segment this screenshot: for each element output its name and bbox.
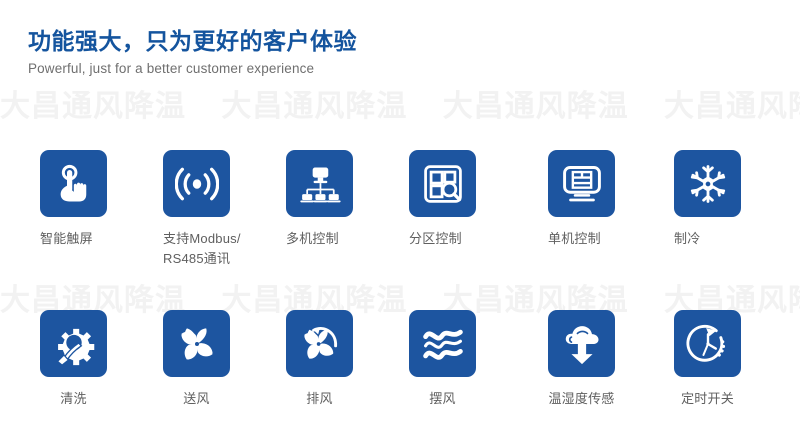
feature-tile[interactable] (40, 310, 107, 377)
feature-tile[interactable] (286, 310, 353, 377)
feature-label: 多机控制 (286, 229, 406, 249)
timer-clock-icon (686, 322, 730, 366)
feature-item-single-unit-control[interactable]: 单机控制 (548, 150, 668, 249)
zone-search-icon (421, 162, 465, 206)
watermark-text: 大昌通风降温 (664, 90, 800, 123)
feature-tile[interactable] (163, 310, 230, 377)
feature-label-line2: RS485通讯 (163, 251, 230, 266)
cloud-humidity-sensor-icon (560, 322, 604, 366)
feature-grid: 智能触屏 支持Modbus/ RS485通讯 (40, 150, 760, 310)
feature-label: 清洗 (40, 389, 107, 409)
feature-tile[interactable] (674, 150, 741, 217)
feature-label: 支持Modbus/ RS485通讯 (163, 229, 283, 268)
gear-brush-clean-icon (52, 322, 96, 366)
feature-label: 送风 (163, 389, 230, 409)
feature-tile[interactable] (286, 150, 353, 217)
feature-item-clean[interactable]: 清洗 (40, 310, 160, 409)
feature-label: 摆风 (409, 389, 476, 409)
feature-tile[interactable] (409, 150, 476, 217)
feature-tile[interactable] (163, 150, 230, 217)
feature-item-multi-unit-control[interactable]: 多机控制 (286, 150, 406, 249)
swing-wind-waves-icon (421, 322, 465, 366)
fan-supply-air-icon (175, 322, 219, 366)
feature-label: 智能触屏 (40, 229, 160, 249)
feature-tile[interactable] (548, 310, 615, 377)
fan-exhaust-air-icon (298, 322, 342, 366)
feature-item-timer-switch[interactable]: 定时开关 (674, 310, 794, 409)
multi-unit-network-icon (298, 162, 342, 206)
feature-item-zone-control[interactable]: 分区控制 (409, 150, 529, 249)
feature-label-line1: 支持Modbus/ (163, 231, 241, 246)
single-unit-monitor-icon (560, 162, 604, 206)
page-title: 功能强大，只为更好的客户体验 (28, 28, 357, 54)
feature-label: 单机控制 (548, 229, 668, 249)
wireless-signal-icon (175, 162, 219, 206)
feature-item-exhaust-air[interactable]: 排风 (286, 310, 406, 409)
watermark-text: 大昌通风降温 (221, 90, 407, 123)
watermark-text: 大昌通风降温 (443, 90, 629, 123)
feature-tile[interactable] (674, 310, 741, 377)
feature-label: 温湿度传感 (548, 389, 615, 409)
page-subtitle: Powerful, just for a better customer exp… (28, 61, 357, 76)
feature-item-modbus[interactable]: 支持Modbus/ RS485通讯 (163, 150, 283, 268)
feature-tile[interactable] (548, 150, 615, 217)
feature-item-temp-humidity-sensor[interactable]: 温湿度传感 (548, 310, 668, 409)
page-header: 功能强大，只为更好的客户体验 Powerful, just for a bett… (28, 28, 357, 76)
touch-screen-icon (53, 163, 95, 205)
feature-label: 分区控制 (409, 229, 529, 249)
feature-item-touch-screen[interactable]: 智能触屏 (40, 150, 160, 249)
feature-item-swing-wind[interactable]: 摆风 (409, 310, 529, 409)
feature-item-supply-air[interactable]: 送风 (163, 310, 283, 409)
feature-tile[interactable] (409, 310, 476, 377)
feature-label: 排风 (286, 389, 353, 409)
feature-label: 定时开关 (674, 389, 741, 409)
feature-tile[interactable] (40, 150, 107, 217)
watermark-text: 大昌通风降温 (0, 90, 186, 123)
feature-label: 制冷 (674, 229, 794, 249)
watermark-row: 大昌通风降温 大昌通风降温 大昌通风降温 大昌通风降温 大昌通风降温 (0, 92, 800, 122)
snowflake-icon (687, 163, 729, 205)
feature-item-cooling[interactable]: 制冷 (674, 150, 794, 249)
